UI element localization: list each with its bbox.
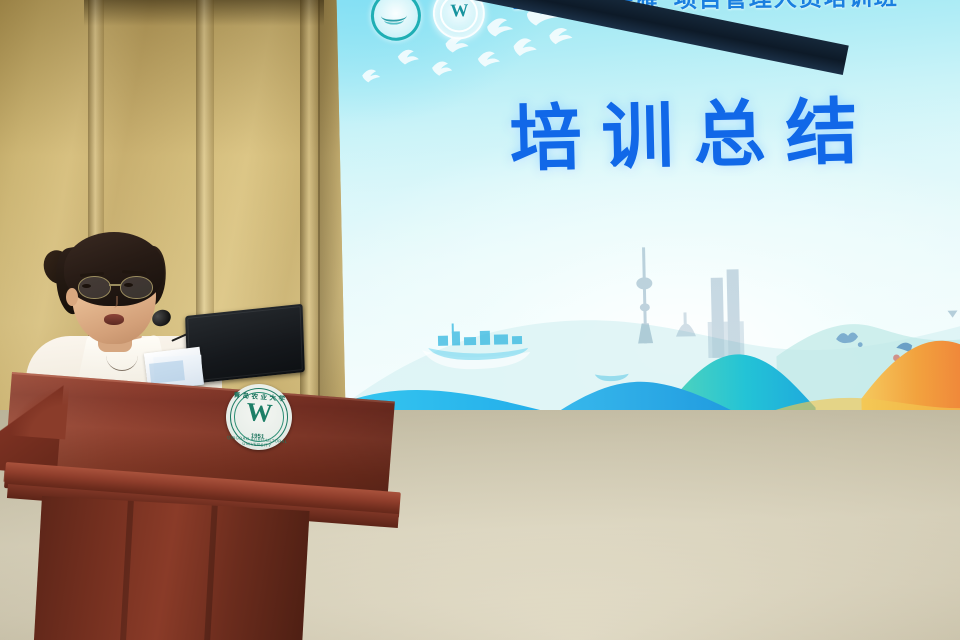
podium-slope-curve [0,374,70,440]
podium-column [34,496,310,640]
led-presentation-screen: W 2025年“头雁”项目管理人员培训班 培训总结 [336,0,960,464]
presenter-notes-tint [149,360,185,383]
slide-main-title: 培训总结 [508,72,878,185]
speaker-mouth [104,314,124,325]
logo-monogram: W [435,0,483,22]
speaker-nose [106,296,118,308]
podium-emblem: 青岛农业大学 W 1951 QINGDAO AGRICULTURAL UNIVE… [224,382,295,453]
photo-scene: W 2025年“头雁”项目管理人员培训班 培训总结 [0,0,960,640]
emblem-monogram: W [225,398,293,429]
laptop-screen [185,304,305,384]
